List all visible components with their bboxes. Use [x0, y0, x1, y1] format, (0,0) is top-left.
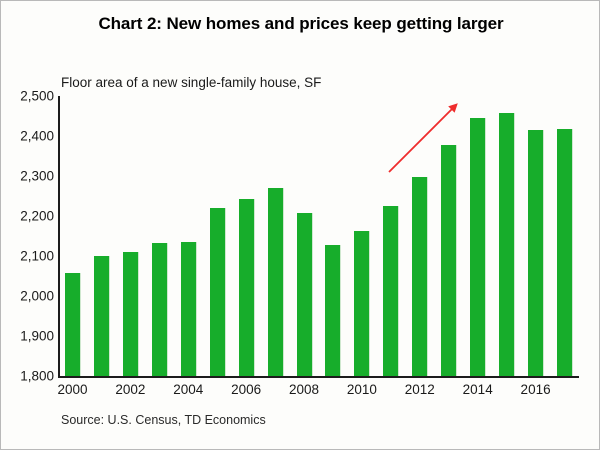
x-axis-line — [58, 376, 579, 378]
bar — [412, 177, 428, 376]
x-axis-tick-label: 2016 — [521, 382, 551, 397]
chart-container: Chart 2: New homes and prices keep getti… — [0, 0, 600, 450]
y-axis-tick-label: 2,000 — [8, 289, 54, 304]
chart-subtitle: Floor area of a new single-family house,… — [61, 75, 321, 90]
bar — [65, 273, 81, 376]
bar — [268, 188, 284, 376]
x-axis-tick-label: 2010 — [347, 382, 377, 397]
x-axis-tick-label: 2014 — [463, 382, 493, 397]
y-axis-tick-label: 2,400 — [8, 129, 54, 144]
bar — [499, 113, 515, 376]
bar — [152, 243, 168, 376]
bar — [354, 231, 370, 376]
y-axis-tick-label: 1,800 — [8, 369, 54, 384]
bar — [210, 208, 226, 376]
x-axis-tick-label: 2012 — [405, 382, 435, 397]
bar — [181, 242, 197, 376]
x-axis-tick-label: 2002 — [115, 382, 145, 397]
bar — [557, 129, 573, 376]
y-axis-tick-label: 2,300 — [8, 169, 54, 184]
bar — [297, 213, 313, 376]
source-note: Source: U.S. Census, TD Economics — [61, 413, 266, 427]
x-axis-tick-label: 2006 — [231, 382, 261, 397]
bar — [383, 206, 399, 376]
bar — [441, 145, 457, 376]
bar — [470, 118, 486, 376]
bar — [325, 245, 341, 376]
x-axis-tick-label: 2004 — [173, 382, 203, 397]
y-axis-tick-label: 2,100 — [8, 249, 54, 264]
bar — [528, 130, 544, 376]
y-axis-tick-label: 2,500 — [8, 89, 54, 104]
chart-title: Chart 2: New homes and prices keep getti… — [61, 13, 541, 34]
bar — [123, 252, 139, 376]
x-axis-tick-label: 2000 — [57, 382, 87, 397]
bar — [94, 256, 110, 376]
x-axis-tick-label: 2008 — [289, 382, 319, 397]
plot-area — [58, 96, 579, 376]
y-axis-tick-label: 2,200 — [8, 209, 54, 224]
y-axis-tick-label: 1,900 — [8, 329, 54, 344]
y-axis-labels: 2,5002,4002,3002,2002,1002,0001,9001,800 — [4, 1, 54, 450]
bar — [239, 199, 255, 376]
